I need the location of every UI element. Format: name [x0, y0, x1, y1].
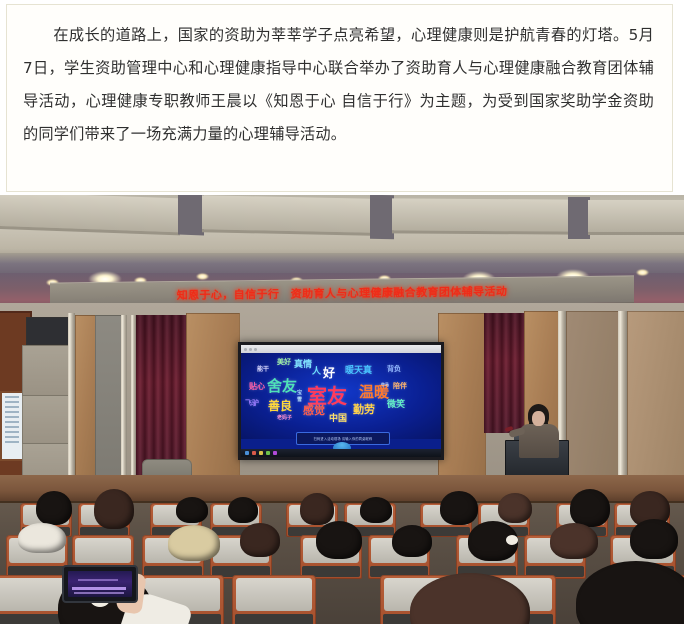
word-cloud-term: 贴心	[249, 383, 265, 391]
word-cloud-term: 能干	[257, 367, 269, 373]
speaker-body	[519, 424, 559, 458]
stage-curtain	[484, 313, 524, 433]
wood-panel	[75, 315, 97, 495]
word-cloud-term: 飞驴	[245, 400, 259, 407]
wall-pillar	[121, 315, 127, 493]
audience-head-with-hat	[168, 525, 220, 561]
word-cloud-term: 牛马	[381, 383, 389, 387]
taskbar-icon[interactable]	[266, 451, 270, 455]
ceiling-light	[636, 269, 649, 276]
audience-head	[300, 493, 334, 525]
word-cloud-term: 人	[312, 368, 321, 377]
audience-head-foreground	[576, 561, 684, 624]
wall-panel	[22, 345, 72, 397]
audience-head	[498, 493, 532, 523]
article-text-card: 在成长的道路上，国家的资助为莘莘学子点亮希望，心理健康则是护航青春的灯塔。5月7…	[6, 4, 673, 192]
word-cloud-term: 暖天真	[345, 367, 372, 376]
auditorium-seat	[232, 575, 316, 624]
word-cloud-term: 温暖	[359, 385, 389, 400]
article-page: 在成长的道路上，国家的资助为莘莘学子点亮希望，心理健康则是护航青春的灯塔。5月7…	[0, 0, 684, 624]
audience-head	[94, 489, 134, 529]
screen-prompt-text: 扫码进入活动现场 请输入你的同桌昵称	[314, 436, 373, 441]
speaker-face	[532, 411, 545, 426]
phone-recording-hand: 学生资助中心	[62, 565, 152, 619]
audience-head	[550, 523, 598, 559]
word-cloud-term: 中国	[329, 415, 347, 424]
taskbar	[241, 449, 441, 457]
phone-screen	[68, 571, 132, 597]
wall-panel	[26, 317, 74, 345]
browser-toolbar	[241, 345, 441, 353]
banner-text: 知恩于心，自信于行 资助育人与心理健康融合教育团体辅导活动	[177, 283, 508, 303]
audience-head	[36, 491, 72, 525]
audience-head	[176, 497, 208, 523]
audience-head	[360, 497, 392, 523]
word-cloud-term: 舍友	[267, 379, 297, 394]
taskbar-icon[interactable]	[252, 451, 256, 455]
wall-pillar	[618, 311, 627, 497]
article-paragraph: 在成长的道路上，国家的资助为莘莘学子点亮希望，心理健康则是护航青春的灯塔。5月7…	[7, 5, 672, 151]
word-cloud-term: 微笑	[387, 401, 405, 410]
hair-tie	[506, 535, 518, 545]
ceiling-light	[196, 273, 209, 280]
word-cloud-term: 美好	[277, 359, 291, 366]
word-cloud-term: 勤劳	[353, 404, 375, 415]
projection-screen[interactable]: 室友舍友温暖善良勤劳感觉好人真情美好能干贴心飞驴老妈子中国暖天真背负牛马陪伴微笑…	[238, 342, 444, 460]
word-cloud-term: 真情	[294, 361, 312, 370]
browser-tab-dot	[244, 348, 247, 351]
audience-head	[316, 521, 362, 559]
word-cloud-term: 背负	[387, 366, 401, 373]
taskbar-icon[interactable]	[273, 451, 277, 455]
wood-panel	[566, 311, 620, 499]
wood-panel	[438, 313, 486, 497]
wall-pillar	[68, 313, 75, 493]
word-cloud-term: 感觉	[303, 405, 325, 416]
audience-head	[392, 525, 432, 557]
taskbar-icon[interactable]	[245, 451, 249, 455]
word-cloud-term: 雪	[297, 398, 302, 403]
audience-head	[440, 491, 478, 525]
word-cloud: 室友舍友温暖善良勤劳感觉好人真情美好能干贴心飞驴老妈子中国暖天真背负牛马陪伴微笑…	[241, 353, 441, 439]
wood-panel	[186, 313, 240, 497]
wall-panel	[95, 315, 123, 495]
wall-panel	[22, 395, 72, 445]
word-cloud-term: 宝	[297, 391, 302, 396]
word-cloud-term: 善良	[268, 400, 292, 412]
word-cloud-term: 室友	[307, 386, 347, 406]
audience-head	[570, 489, 610, 527]
audience-head	[630, 519, 678, 559]
word-cloud-term: 好	[323, 367, 335, 379]
audience-head	[228, 497, 258, 523]
word-cloud-term: 陪伴	[393, 383, 407, 390]
smartphone	[62, 565, 138, 603]
taskbar-icon[interactable]	[259, 451, 263, 455]
notice-board	[0, 391, 24, 461]
stage-curtain	[136, 315, 186, 483]
wood-panel	[627, 311, 684, 499]
event-photo: 知恩于心，自信于行 资助育人与心理健康融合教育团体辅导活动	[0, 195, 684, 624]
browser-tab-dot	[254, 348, 257, 351]
audience-head	[240, 523, 280, 557]
audience-head-with-cap	[18, 523, 66, 553]
word-cloud-term: 老妈子	[277, 416, 292, 421]
browser-tab-dot	[249, 348, 252, 351]
